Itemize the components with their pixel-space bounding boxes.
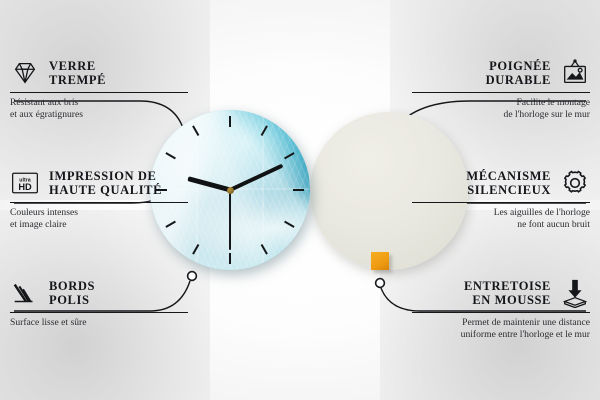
- clock-tick: [293, 189, 304, 191]
- foam-spacer: [371, 252, 389, 270]
- clock-tick: [229, 253, 231, 264]
- infographic-canvas: VERRE TREMPÉ Résistant aux bris et aux é…: [0, 0, 600, 400]
- clock-tick: [229, 116, 231, 127]
- feature-title: VERRE TREMPÉ: [49, 59, 106, 87]
- feature-header: ENTRETOISE EN MOUSSE: [412, 278, 590, 308]
- feature-verre-trempe: VERRE TREMPÉ Résistant aux bris et aux é…: [10, 58, 188, 120]
- feature-header: POIGNÉE DURABLE: [412, 58, 590, 88]
- connector-node-left-3: [188, 272, 197, 281]
- feature-description: Permet de maintenir une distance uniform…: [412, 317, 590, 340]
- feature-poignee-durable: POIGNÉE DURABLE Facilite le montage de l…: [412, 58, 590, 120]
- feature-rule: [412, 202, 590, 203]
- feature-mecanisme-silencieux: MÉCANISME SILENCIEUX Les aiguilles de l'…: [412, 168, 590, 230]
- polished-edges-icon: [10, 278, 40, 308]
- feature-rule: [10, 202, 188, 203]
- feature-rule: [10, 312, 188, 313]
- feature-header: BORDS POLIS: [10, 278, 188, 308]
- feature-title: MÉCANISME SILENCIEUX: [466, 169, 551, 197]
- feature-title: BORDS POLIS: [49, 279, 95, 307]
- feature-rule: [10, 92, 188, 93]
- svg-text:HD: HD: [18, 182, 32, 192]
- feature-header: ultra HD IMPRESSION DE HAUTE QUALITÉ: [10, 168, 188, 198]
- diamond-icon: [10, 58, 40, 88]
- feature-title: ENTRETOISE EN MOUSSE: [464, 279, 551, 307]
- feature-description: Résistant aux bris et aux égratignures: [10, 97, 188, 120]
- feature-title: IMPRESSION DE HAUTE QUALITÉ: [49, 169, 162, 197]
- feature-description: Facilite le montage de l'horloge sur le …: [412, 97, 590, 120]
- ultra-hd-icon: ultra HD: [10, 168, 40, 198]
- connector-node-right-3: [376, 279, 385, 288]
- clock-second-hand: [229, 190, 231, 250]
- clock-center-cap: [227, 187, 234, 194]
- feature-rule: [412, 92, 590, 93]
- feature-header: MÉCANISME SILENCIEUX: [412, 168, 590, 198]
- wall-hanger-icon: [560, 58, 590, 88]
- feature-description: Surface lisse et sûre: [10, 317, 188, 329]
- feature-impression-haute-qualite: ultra HD IMPRESSION DE HAUTE QUALITÉ Cou…: [10, 168, 188, 230]
- feature-description: Les aiguilles de l'horloge ne font aucun…: [412, 207, 590, 230]
- feature-title: POIGNÉE DURABLE: [486, 59, 551, 87]
- feature-header: VERRE TREMPÉ: [10, 58, 188, 88]
- foam-spacer-icon: [560, 278, 590, 308]
- feature-bords-polis: BORDS POLIS Surface lisse et sûre: [10, 278, 188, 329]
- gear-icon: [560, 168, 590, 198]
- feature-rule: [412, 312, 590, 313]
- feature-description: Couleurs intenses et image claire: [10, 207, 188, 230]
- feature-entretoise-en-mousse: ENTRETOISE EN MOUSSE Permet de maintenir…: [412, 278, 590, 340]
